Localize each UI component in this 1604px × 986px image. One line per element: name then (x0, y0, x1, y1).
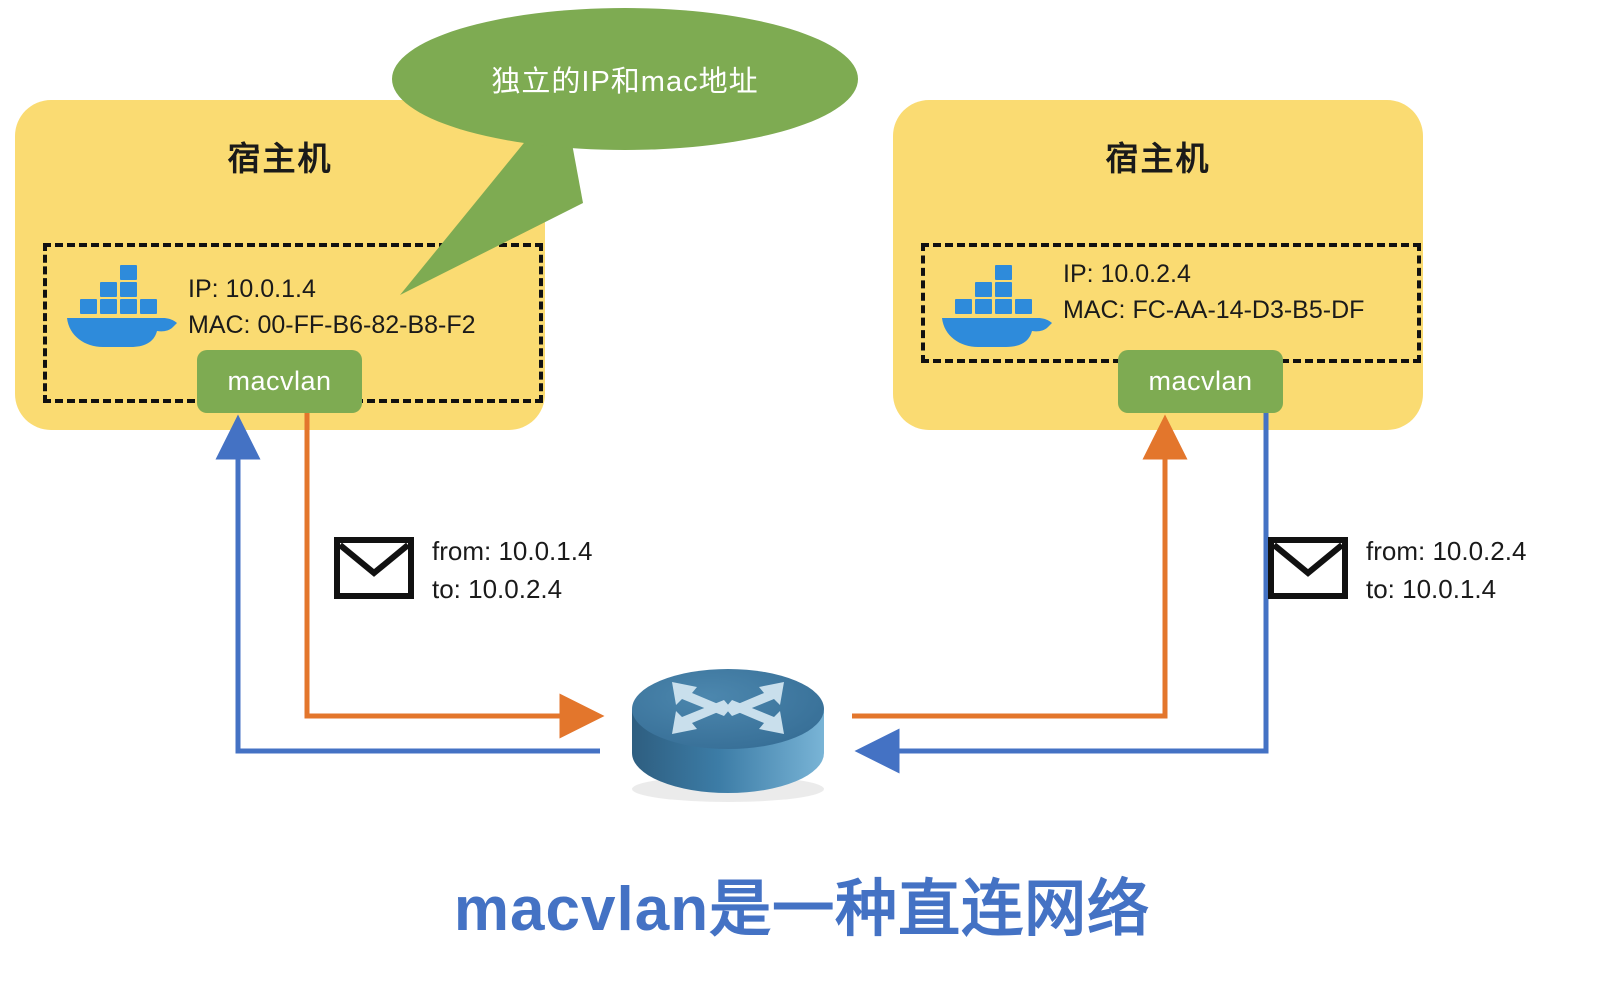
diagram-caption: macvlan是一种直连网络 (0, 858, 1604, 948)
container-info-right: IP: 10.0.2.4 MAC: FC-AA-14-D3-B5-DF (1063, 257, 1364, 328)
packet-left-to: to: 10.0.2.4 (432, 571, 592, 609)
callout-text: 独立的IP和mac地址 (491, 58, 758, 100)
diagram-canvas: 宿主机 IP: 10.0.1.4 MAC: 00-FF-B6-82-B8-F2 … (0, 0, 1604, 986)
macvlan-interface-left[interactable]: macvlan (197, 350, 362, 413)
envelope-icon (334, 537, 414, 599)
packet-right-text: from: 10.0.2.4 to: 10.0.1.4 (1366, 533, 1526, 608)
callout-bubble: 独立的IP和mac地址 (392, 8, 858, 150)
packet-left-from: from: 10.0.1.4 (432, 533, 592, 571)
macvlan-interface-right[interactable]: macvlan (1118, 350, 1283, 413)
envelope-icon (1268, 537, 1348, 599)
router-icon[interactable] (618, 661, 838, 806)
packet-right-to: to: 10.0.1.4 (1366, 571, 1526, 609)
packet-right-from: from: 10.0.2.4 (1366, 533, 1526, 571)
host-title-right: 宿主机 (893, 132, 1423, 180)
docker-whale-icon (62, 252, 177, 347)
macvlan-label-right: macvlan (1148, 366, 1252, 397)
macvlan-label-left: macvlan (227, 366, 331, 397)
container-ip-right: IP: 10.0.2.4 (1063, 257, 1364, 293)
path-router-to-right-in (852, 422, 1165, 716)
container-mac-left: MAC: 00-FF-B6-82-B8-F2 (188, 308, 476, 344)
container-mac-right: MAC: FC-AA-14-D3-B5-DF (1063, 293, 1364, 329)
packet-left-text: from: 10.0.1.4 to: 10.0.2.4 (432, 533, 592, 608)
docker-whale-icon (937, 252, 1052, 347)
path-right-out-to-router (862, 413, 1266, 751)
